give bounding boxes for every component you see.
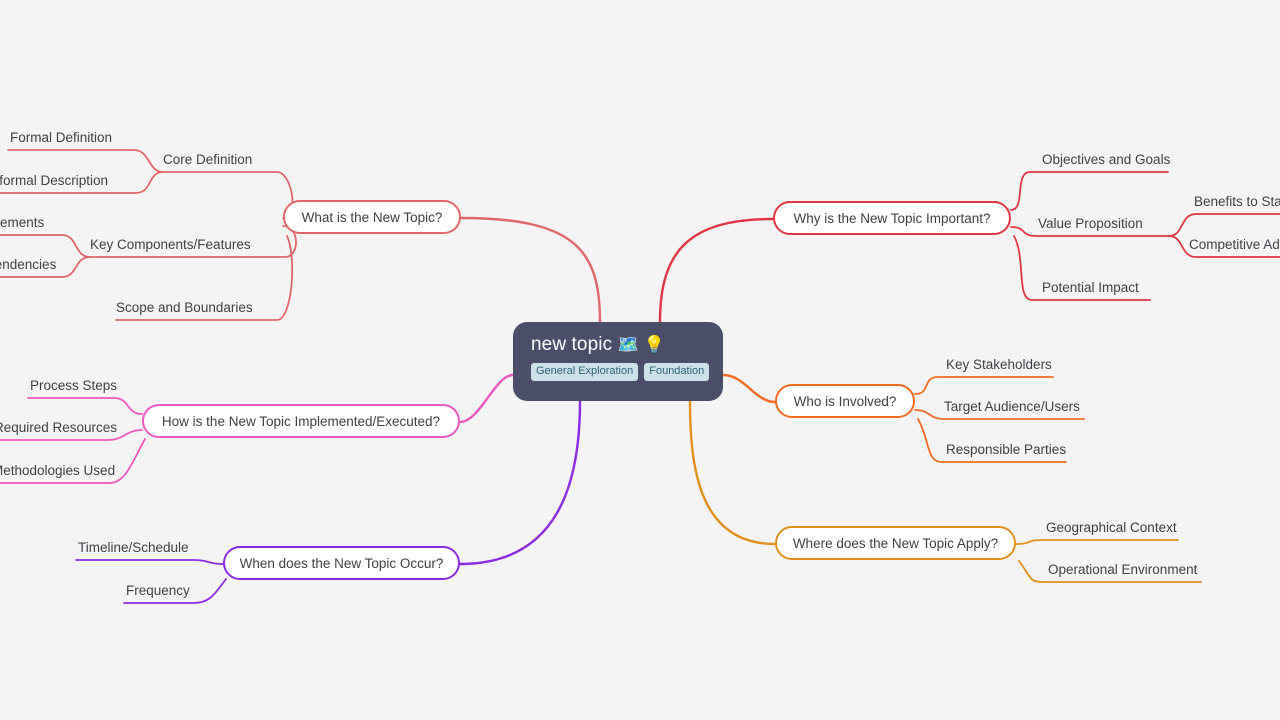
branch-node-what[interactable]: What is the New Topic?	[283, 200, 461, 234]
leaf-key-stakeholders[interactable]: Key Stakeholders	[946, 357, 1052, 373]
central-node-title-text: new topic	[531, 334, 612, 355]
leaf-scope-and-boundaries[interactable]: Scope and Boundaries	[116, 300, 253, 316]
trunk-what	[461, 218, 600, 322]
link-core-definition	[163, 172, 293, 218]
leaf-dependencies[interactable]: Dependencies	[0, 257, 56, 273]
leaf-competitive-advantage[interactable]: Competitive Advantage	[1189, 237, 1280, 253]
branch-node-how[interactable]: How is the New Topic Implemented/Execute…	[142, 404, 460, 438]
leaf-potential-impact[interactable]: Potential Impact	[1042, 280, 1139, 296]
link-geographical-context	[1016, 540, 1178, 544]
leaf-timeline-schedule[interactable]: Timeline/Schedule	[78, 540, 189, 556]
leaf-target-audience-users[interactable]: Target Audience/Users	[944, 399, 1080, 415]
leaf-key-components-features[interactable]: Key Components/Features	[90, 237, 251, 253]
leaf-formal-definition[interactable]: Formal Definition	[10, 130, 112, 146]
mindmap-canvas: new topic 🗺️ 💡 General Exploration Found…	[0, 0, 1280, 720]
leaf-operational-environment[interactable]: Operational Environment	[1048, 562, 1197, 578]
leaf-elements[interactable]: Elements	[0, 215, 44, 231]
leaf-required-resources[interactable]: Required Resources	[0, 420, 117, 436]
trunk-who	[723, 375, 775, 402]
central-node-title: new topic 🗺️ 💡	[531, 334, 665, 356]
tag-foundation[interactable]: Foundation	[644, 363, 709, 381]
leaf-frequency[interactable]: Frequency	[126, 583, 190, 599]
branch-node-where[interactable]: Where does the New Topic Apply?	[775, 526, 1016, 560]
branch-label-when: When does the New Topic Occur?	[240, 556, 444, 571]
branch-label-who: Who is Involved?	[794, 394, 897, 409]
central-node[interactable]: new topic 🗺️ 💡 General Exploration Found…	[513, 322, 723, 401]
branch-node-when[interactable]: When does the New Topic Occur?	[223, 546, 460, 580]
branch-label-why: Why is the New Topic Important?	[793, 211, 990, 226]
branch-node-who[interactable]: Who is Involved?	[775, 384, 915, 418]
branch-label-where: Where does the New Topic Apply?	[793, 536, 998, 551]
link-benefits-stakeholders	[1169, 214, 1280, 236]
trunk-when	[460, 401, 580, 564]
tag-general-exploration[interactable]: General Exploration	[531, 363, 638, 381]
link-process-steps	[28, 398, 142, 414]
leaf-benefits-to-stakeholders[interactable]: Benefits to Stakeholders	[1194, 194, 1280, 210]
leaf-value-proposition[interactable]: Value Proposition	[1038, 216, 1143, 232]
trunk-where	[690, 401, 775, 544]
leaf-responsible-parties[interactable]: Responsible Parties	[946, 442, 1066, 458]
leaf-geographical-context[interactable]: Geographical Context	[1046, 520, 1177, 536]
link-elements	[0, 235, 90, 257]
link-key-stakeholders	[915, 377, 1053, 394]
trunk-how	[460, 375, 513, 422]
branch-node-why[interactable]: Why is the New Topic Important?	[773, 201, 1011, 235]
leaf-informal-description[interactable]: Informal Description	[0, 173, 108, 189]
map-lightbulb-emoji: 🗺️ 💡	[618, 335, 665, 354]
branch-label-how: How is the New Topic Implemented/Execute…	[162, 414, 440, 429]
trunk-why	[660, 219, 773, 322]
leaf-process-steps[interactable]: Process Steps	[30, 378, 117, 394]
leaf-core-definition[interactable]: Core Definition	[163, 152, 252, 168]
leaf-objectives-and-goals[interactable]: Objectives and Goals	[1042, 152, 1170, 168]
leaf-methodologies-used[interactable]: Methodologies Used	[0, 463, 115, 479]
link-timeline-schedule	[76, 560, 223, 564]
branch-label-what: What is the New Topic?	[302, 210, 443, 225]
central-node-tags: General Exploration Foundation	[531, 363, 709, 381]
link-formal-definition	[8, 150, 163, 172]
link-objectives-goals	[1011, 172, 1168, 210]
